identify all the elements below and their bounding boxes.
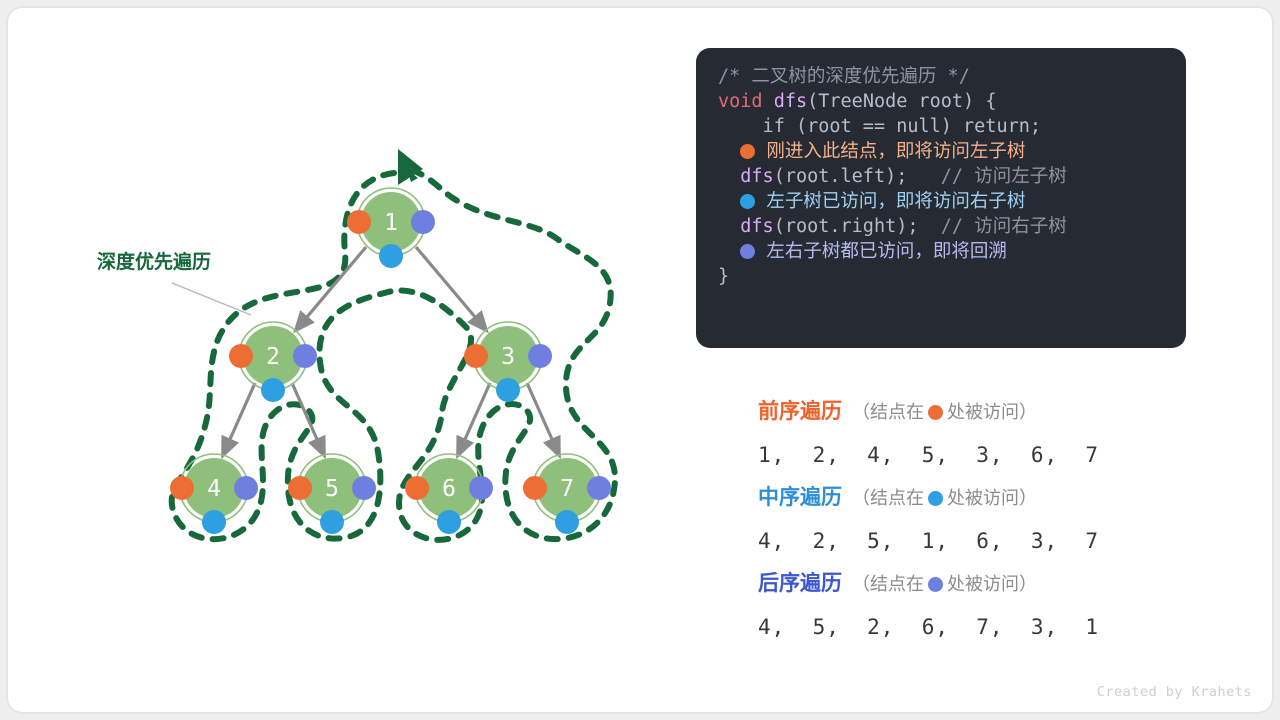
purple-marker-dot-icon: [740, 244, 755, 259]
tree-nodes: 1 2 3: [170, 188, 611, 534]
postorder-dot: [352, 476, 376, 500]
code-token: }: [718, 266, 729, 287]
traversal-note: （结点在处被访问）: [852, 402, 1037, 422]
traversal-heading: 前序遍历: [758, 400, 842, 423]
traversal-note-prefix: （结点在: [852, 488, 924, 508]
traversal-results: 前序遍历（结点在处被访问）1, 2, 4, 5, 3, 6, 7中序遍历（结点在…: [758, 393, 1198, 651]
traversal-heading-row: 后序遍历（结点在处被访问）: [758, 565, 1198, 603]
code-token: (TreeNode root) {: [807, 91, 996, 112]
postorder-dot: [587, 476, 611, 500]
preorder-dot: [464, 344, 488, 368]
edge-2-5: [292, 383, 324, 455]
traversal-heading: 中序遍历: [758, 486, 842, 509]
traversal-note: （结点在处被访问）: [852, 574, 1037, 594]
code-token: [763, 91, 774, 112]
traversal-sequence: 4, 2, 5, 1, 6, 3, 7: [758, 517, 1198, 565]
blue-marker-dot-icon: [928, 491, 943, 506]
inorder-dot: [261, 378, 285, 402]
orange-marker-dot-icon: [928, 405, 943, 420]
code-token: 刚进入此结点，即将访问左子树: [755, 141, 1025, 162]
traversal-heading-row: 前序遍历（结点在处被访问）: [758, 393, 1198, 431]
tree-node-4[interactable]: 4: [170, 454, 258, 534]
preorder-dot: [347, 210, 371, 234]
postorder-dot: [234, 476, 258, 500]
code-token: // 访问左子树: [941, 166, 1067, 187]
credit-text: Created by Krahets: [1097, 684, 1252, 700]
preorder-dot: [229, 344, 253, 368]
traversal-note: （结点在处被访问）: [852, 488, 1037, 508]
code-line: dfs(root.right); // 访问右子树: [718, 214, 1186, 239]
postorder-dot: [528, 344, 552, 368]
page-card: 1 2 3: [8, 8, 1272, 712]
orange-marker-dot-icon: [740, 144, 755, 159]
preorder-dot: [288, 476, 312, 500]
code-line: dfs(root.left); // 访问左子树: [718, 164, 1186, 189]
inorder-dot: [320, 510, 344, 534]
code-line: }: [718, 264, 1186, 289]
tree-node-2[interactable]: 2: [229, 322, 317, 402]
code-line: 左右子树都已访问，即将回溯: [718, 239, 1186, 264]
code-token: dfs: [740, 166, 773, 187]
traversal-start-pointer-icon: [398, 149, 423, 185]
preorder-dot: [405, 476, 429, 500]
dfs-annotation: 深度优先遍历: [97, 250, 251, 315]
code-token: (root.right);: [774, 216, 941, 237]
code-token: dfs: [740, 216, 773, 237]
inorder-dot: [437, 510, 461, 534]
blue-marker-dot-icon: [740, 194, 755, 209]
inorder-dot: [379, 244, 403, 268]
edge-2-4: [223, 383, 255, 455]
traversal-note-suffix: 处被访问）: [947, 574, 1037, 594]
postorder-dot: [411, 210, 435, 234]
tree-node-3[interactable]: 3: [464, 322, 552, 402]
tree-diagram: 1 2 3: [8, 8, 688, 712]
code-line: void dfs(TreeNode root) {: [718, 89, 1186, 114]
code-line: /* 二叉树的深度优先遍历 */: [718, 64, 1186, 89]
node-label: 2: [266, 344, 280, 370]
code-token: 左子树已访问，即将访问右子树: [755, 191, 1025, 212]
traversal-sequence: 1, 2, 4, 5, 3, 6, 7: [758, 431, 1198, 479]
node-label: 4: [207, 476, 221, 502]
inorder-dot: [202, 510, 226, 534]
code-token: // 访问右子树: [941, 216, 1067, 237]
postorder-dot: [469, 476, 493, 500]
traversal-note-prefix: （结点在: [852, 574, 924, 594]
code-token: [718, 141, 740, 162]
inorder-dot: [555, 510, 579, 534]
traversal-note-prefix: （结点在: [852, 402, 924, 422]
edge-1-3: [416, 247, 486, 330]
code-snippet-panel: /* 二叉树的深度优先遍历 */void dfs(TreeNode root) …: [696, 48, 1186, 348]
node-label: 3: [501, 344, 515, 370]
purple-marker-dot-icon: [928, 577, 943, 592]
code-token: 左右子树都已访问，即将回溯: [755, 241, 1007, 262]
dfs-annotation-label: 深度优先遍历: [97, 250, 211, 273]
postorder-dot: [293, 344, 317, 368]
code-line: if (root == null) return;: [718, 114, 1186, 139]
preorder-dot: [523, 476, 547, 500]
node-label: 1: [384, 210, 398, 236]
traversal-note-suffix: 处被访问）: [947, 402, 1037, 422]
traversal-heading-row: 中序遍历（结点在处被访问）: [758, 479, 1198, 517]
node-label: 7: [560, 476, 574, 502]
code-token: [718, 191, 740, 212]
node-label: 5: [325, 476, 339, 502]
code-token: void: [718, 91, 763, 112]
code-token: if (root == null) return;: [718, 116, 1041, 137]
traversal-note-suffix: 处被访问）: [947, 488, 1037, 508]
code-line: 左子树已访问，即将访问右子树: [718, 189, 1186, 214]
preorder-dot: [170, 476, 194, 500]
code-line: 刚进入此结点，即将访问左子树: [718, 139, 1186, 164]
code-token: (root.left);: [774, 166, 941, 187]
code-token: dfs: [774, 91, 807, 112]
traversal-heading: 后序遍历: [758, 572, 842, 595]
inorder-dot: [496, 378, 520, 402]
code-token: [718, 166, 740, 187]
code-token: /* 二叉树的深度优先遍历 */: [718, 66, 970, 87]
dfs-annotation-leader-line: [172, 283, 251, 315]
node-label: 6: [442, 476, 456, 502]
code-token: [718, 241, 740, 262]
code-token: [718, 216, 740, 237]
edge-3-6: [458, 383, 490, 455]
traversal-sequence: 4, 5, 2, 6, 7, 3, 1: [758, 603, 1198, 651]
